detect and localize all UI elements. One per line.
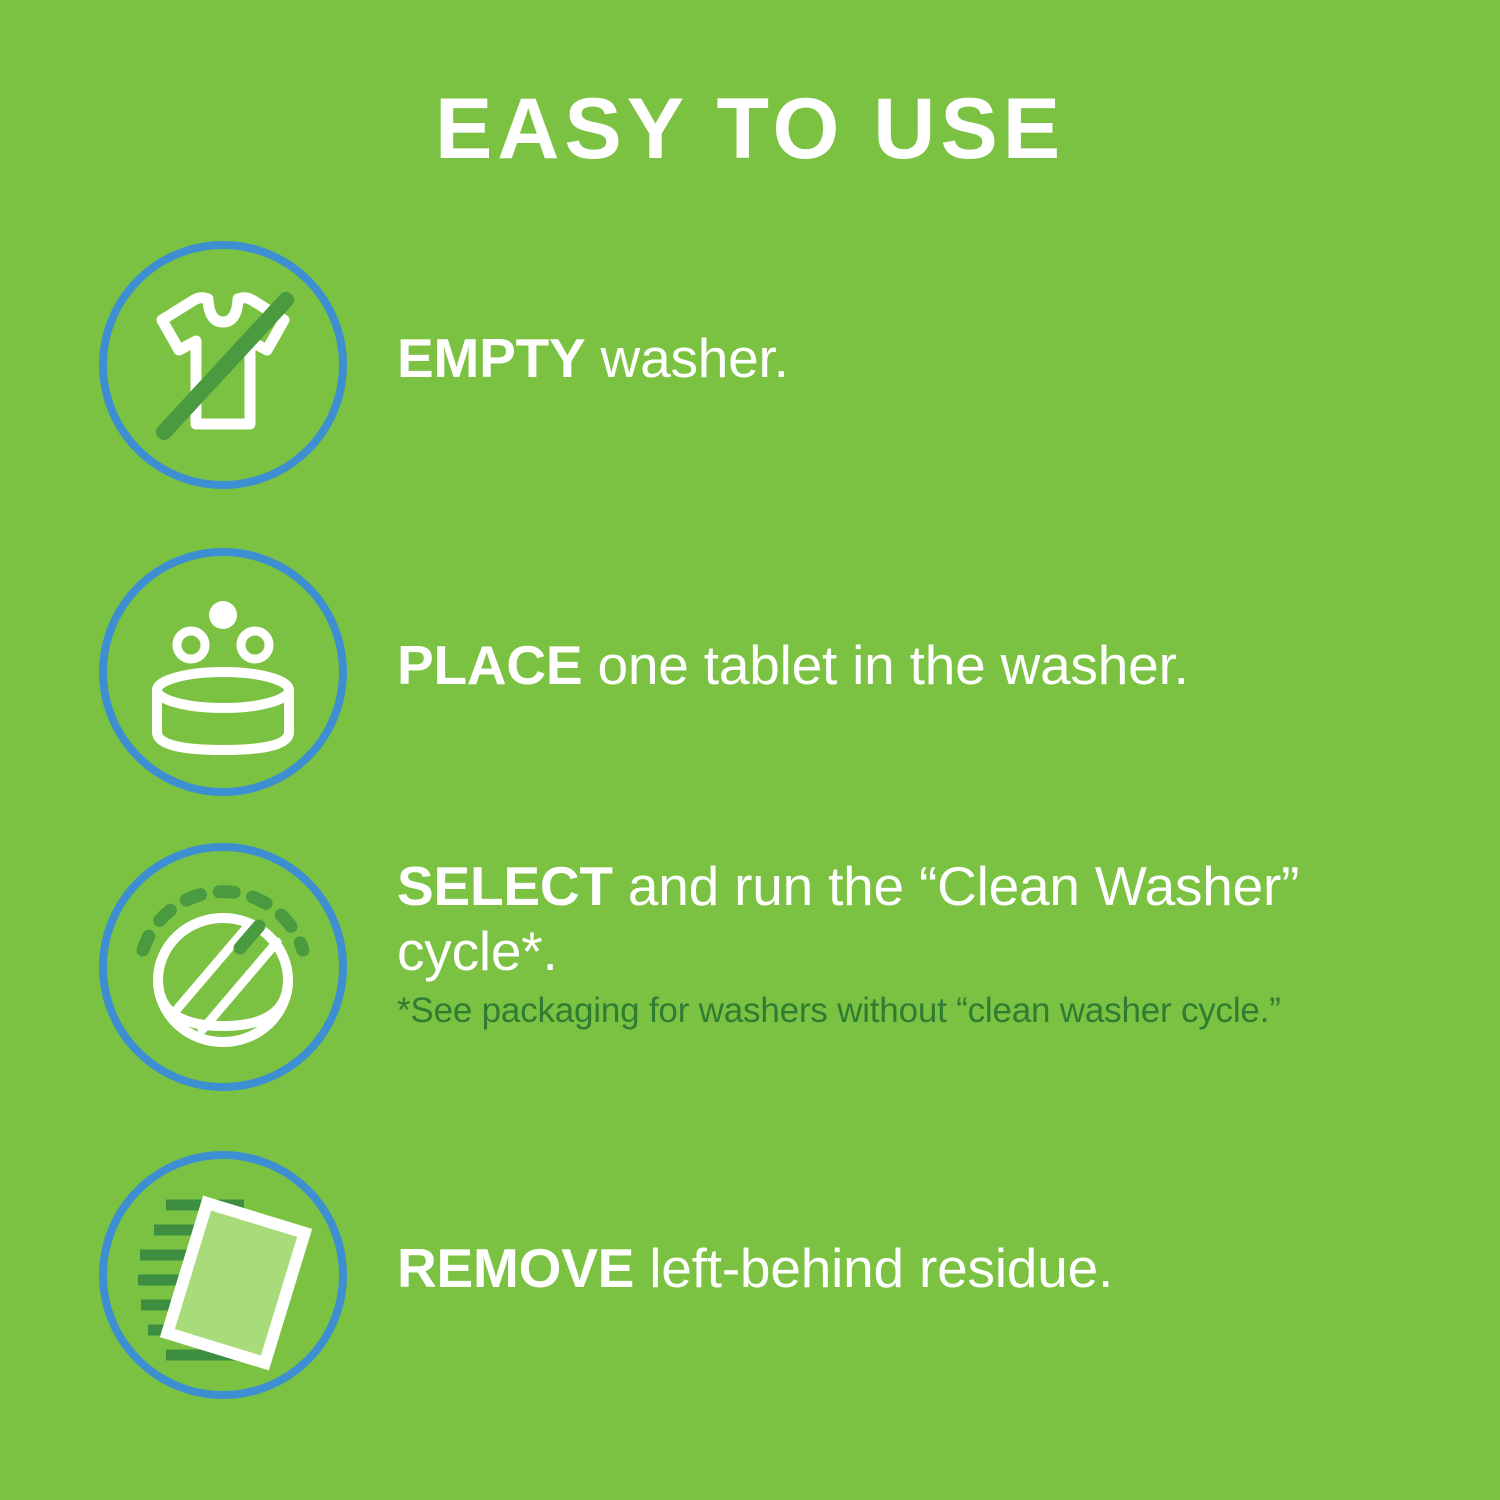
step-keyword: EMPTY [397, 327, 585, 389]
step-text: EMPTY washer. [397, 326, 1437, 391]
wipe-cloth-motion-icon [96, 1148, 350, 1402]
step-rest: washer. [585, 327, 788, 389]
washer-dial-knob-icon [96, 840, 350, 1094]
step-keyword: SELECT [397, 855, 613, 917]
step-line: SELECT and run the “Clean Washer” cycle*… [397, 854, 1437, 984]
step-keyword: PLACE [397, 634, 582, 696]
step-line: EMPTY washer. [397, 326, 1437, 391]
step-rest: one tablet in the washer. [582, 634, 1188, 696]
step-line: REMOVE left-behind residue. [397, 1236, 1437, 1301]
step-rest: left-behind residue. [634, 1237, 1113, 1299]
page-title: EASY TO USE [0, 86, 1500, 172]
step-text: PLACE one tablet in the washer. [397, 633, 1437, 698]
step-text: SELECT and run the “Clean Washer” cycle*… [397, 854, 1437, 1032]
easy-to-use-infographic: EASY TO USE EMPTY washer. P [0, 0, 1500, 1500]
step-footnote: *See packaging for washers without “clea… [397, 990, 1297, 1033]
step-text: REMOVE left-behind residue. [397, 1236, 1437, 1301]
no-laundry-shirt-icon [96, 238, 350, 492]
wipe-cloth [160, 1196, 312, 1371]
step-keyword: REMOVE [397, 1237, 634, 1299]
step-line: PLACE one tablet in the washer. [397, 633, 1437, 698]
tablet-puck-with-bubbles-icon [96, 545, 350, 799]
